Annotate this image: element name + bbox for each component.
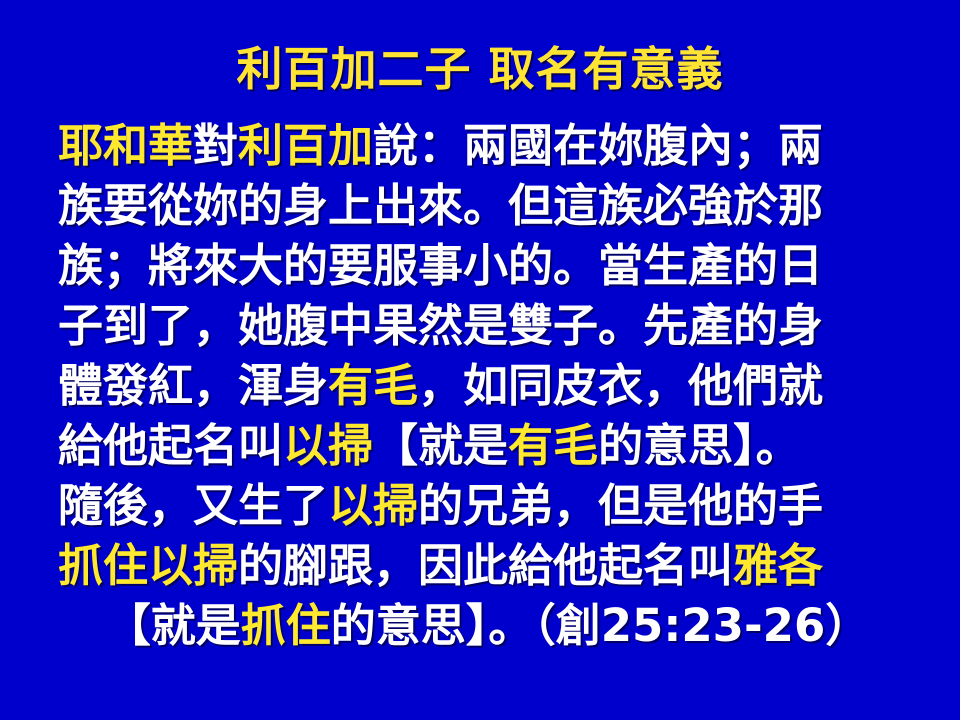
verse-text: 隨後，又生了 bbox=[58, 479, 328, 532]
verse-text: 給他起名叫 bbox=[58, 419, 283, 472]
verse-line: 【就是抓住的意思】。（創25:23-26） bbox=[58, 596, 918, 656]
highlighted-term: 以掃 bbox=[283, 419, 373, 472]
highlighted-term: 有毛 bbox=[508, 419, 598, 472]
verse-text: 【就是 bbox=[106, 599, 241, 652]
verse-text: 的腳跟，因此給他起名叫 bbox=[238, 539, 733, 592]
presentation-slide: 利百加二子 取名有意義 耶和華對利百加說：兩國在妳腹內；兩族要從妳的身上出來。但… bbox=[0, 0, 960, 720]
verse-line: 給他起名叫以掃【就是有毛的意思】。 bbox=[58, 416, 918, 476]
highlighted-term: 利百加 bbox=[238, 119, 373, 172]
verse-text: 子到了，她腹中果然是雙子。先產的身 bbox=[58, 299, 823, 352]
verse-text: 的意思】。（創25:23-26） bbox=[331, 599, 871, 652]
highlighted-term: 以掃 bbox=[328, 479, 418, 532]
verse-line: 體發紅，渾身有毛，如同皮衣，他們就 bbox=[58, 356, 918, 416]
verse-line: 耶和華對利百加說：兩國在妳腹內；兩 bbox=[58, 116, 918, 176]
highlighted-term: 有毛 bbox=[328, 359, 418, 412]
verse-text: 說：兩國在妳腹內；兩 bbox=[373, 119, 823, 172]
slide-title: 利百加二子 取名有意義 bbox=[0, 41, 960, 97]
verse-text: 【就是 bbox=[373, 419, 508, 472]
verse-line: 子到了，她腹中果然是雙子。先產的身 bbox=[58, 296, 918, 356]
verse-text: 對 bbox=[193, 119, 238, 172]
highlighted-term: 雅各 bbox=[733, 539, 823, 592]
highlighted-term: 耶和華 bbox=[58, 119, 193, 172]
highlighted-term: 抓住以掃 bbox=[58, 539, 238, 592]
verse-text: 的兄弟，但是他的手 bbox=[418, 479, 823, 532]
highlighted-term: 抓住 bbox=[241, 599, 331, 652]
verse-text: ，如同皮衣，他們就 bbox=[418, 359, 823, 412]
verse-text: 的意思】。 bbox=[598, 419, 801, 472]
verse-line: 族要從妳的身上出來。但這族必強於那 bbox=[58, 176, 918, 236]
verse-line: 隨後，又生了以掃的兄弟，但是他的手 bbox=[58, 476, 918, 536]
verse-text: 族要從妳的身上出來。但這族必強於那 bbox=[58, 179, 823, 232]
verse-line: 族；將來大的要服事小的。當生產的日 bbox=[58, 236, 918, 296]
verse-body: 耶和華對利百加說：兩國在妳腹內；兩族要從妳的身上出來。但這族必強於那族；將來大的… bbox=[58, 116, 918, 656]
verse-text: 族；將來大的要服事小的。當生產的日 bbox=[58, 239, 823, 292]
verse-line: 抓住以掃的腳跟，因此給他起名叫雅各 bbox=[58, 536, 918, 596]
verse-text: 體發紅，渾身 bbox=[58, 359, 328, 412]
